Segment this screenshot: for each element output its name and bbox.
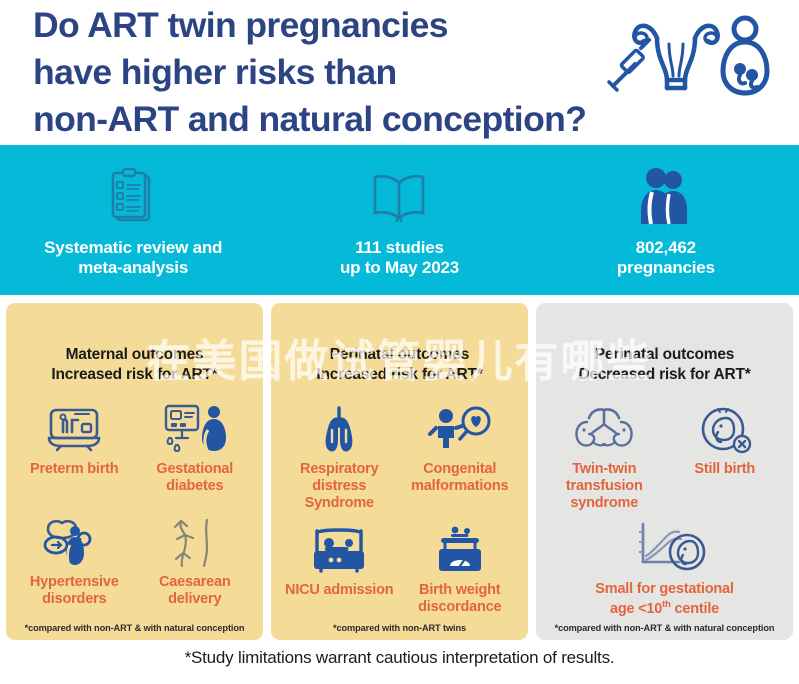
title-line-1: Do ART twin pregnancies [33,2,593,49]
incubator-icon [45,399,103,454]
open-book-icon [369,168,429,226]
item-label: Caesarean delivery [159,574,231,608]
panel-perinatal-increased: Perinatal outcomes Increased risk for AR… [271,303,528,640]
stat-line-1: Systematic review and [44,238,222,258]
caesarean-scar-icon [167,512,223,567]
item-respiratory-distress-syndrome: Respiratory distress Syndrome [279,397,400,519]
item-preterm-birth: Preterm birth [14,397,135,510]
label-line: Respiratory distress [281,461,398,495]
panel-title-line-2: Increased risk for ART* [279,365,520,385]
pregnant-woman-twins-icon [715,13,775,103]
item-twin-twin-transfusion-syndrome: Twin-twin transfusion syndrome [544,397,665,517]
item-label: NICU admission [285,582,393,599]
lungs-icon [310,399,368,454]
label-line: Twin-twin [566,461,643,478]
item-label: Preterm birth [30,461,118,478]
stat-pregnancies: 802,462 pregnancies [533,162,799,279]
label-line: diabetes [156,478,233,495]
label-line: Birth weight [418,582,501,599]
panel-title: Perinatal outcomes Increased risk for AR… [279,345,520,385]
stat-line-2: meta-analysis [44,258,222,278]
item-gestational-diabetes: Gestational diabetes [135,397,256,510]
panel-title-line-2: Decreased risk for ART* [544,365,785,385]
panel-title-line-2: Increased risk for ART* [14,365,255,385]
footer: *Study limitations warrant cautious inte… [0,640,799,676]
stillbirth-icon [696,399,754,454]
stat-systematic-review: Systematic review and meta-analysis [0,162,266,279]
header: Do ART twin pregnancies have higher risk… [0,0,799,145]
label-line-centile: age <10th centile [595,598,733,618]
panel-footnote: *compared with non-ART & with natural co… [14,623,255,640]
label-line: Still birth [694,461,755,478]
baby-magnifier-icon [428,399,492,454]
label-line: Small for gestational [595,581,733,598]
footer-text: *Study limitations warrant cautious inte… [185,648,615,668]
stat-studies: 111 studies up to May 2023 [266,162,532,279]
outcome-panels: Maternal outcomes Increased risk for ART… [0,295,799,640]
panel-title-line-1: Maternal outcomes [14,345,255,365]
item-label: Hypertensive disorders [30,574,119,608]
stat-line-1: 111 studies [340,238,459,258]
label-line: Gestational [156,461,233,478]
item-label: Birth weight discordance [418,582,501,616]
label-line: malformations [411,478,508,495]
stat-label: 111 studies up to May 2023 [340,238,459,279]
panel-title: Maternal outcomes Increased risk for ART… [14,345,255,385]
item-nicu-admission: NICU admission [279,518,400,623]
two-people-icon [639,168,693,226]
item-still-birth: Still birth [665,397,786,517]
label-line: Congenital [411,461,508,478]
growth-chart-baby-icon [617,519,713,574]
title-line-3: non-ART and natural conception? [33,96,593,143]
stat-line-2: pregnancies [617,258,715,278]
stat-line-2: up to May 2023 [340,258,459,278]
item-label: Twin-twin transfusion syndrome [566,461,643,512]
item-label: Congenital malformations [411,461,508,495]
stat-label: 802,462 pregnancies [617,238,715,279]
blood-pressure-icon [42,512,106,567]
item-congenital-malformations: Congenital malformations [400,397,521,519]
item-label: Small for gestational age <10th centile [595,581,733,618]
label-line: Hypertensive [30,574,119,591]
panel-footnote: *compared with non-ART & with natural co… [544,623,785,640]
header-icon-group [597,8,777,96]
stat-line-1: 802,462 [617,238,715,258]
label-line: Caesarean [159,574,231,591]
panel-title-line-1: Perinatal outcomes [279,345,520,365]
label-line: discordance [418,599,501,616]
twin-fetuses-icon [571,399,637,454]
item-label: Still birth [694,461,755,478]
label-line: delivery [159,591,231,608]
panel-items: Respiratory distress Syndrome [279,397,520,623]
item-label: Gestational diabetes [156,461,233,495]
title-line-2: have higher risks than [33,49,593,96]
panel-perinatal-decreased: Perinatal outcomes Decreased risk for AR… [536,303,793,640]
item-hypertensive-disorders: Hypertensive disorders [14,510,135,623]
panel-title-line-1: Perinatal outcomes [544,345,785,365]
item-birth-weight-discordance: Birth weight discordance [400,518,521,623]
item-label: Respiratory distress Syndrome [281,461,398,512]
nicu-cot-icon [309,520,369,575]
item-caesarean-delivery: Caesarean delivery [135,510,256,623]
panel-maternal-outcomes: Maternal outcomes Increased risk for ART… [6,303,263,640]
panel-title: Perinatal outcomes Decreased risk for AR… [544,345,785,385]
item-small-for-gestational-age: Small for gestational age <10th centile [544,517,785,623]
label-line: Preterm birth [30,461,118,478]
stat-label: Systematic review and meta-analysis [44,238,222,279]
label-line: NICU admission [285,582,393,599]
label-line: syndrome [566,495,643,512]
panel-items: Twin-twin transfusion syndrome [544,397,785,623]
glucose-monitor-icon [164,399,226,454]
page-title: Do ART twin pregnancies have higher risk… [33,2,593,143]
label-line: disorders [30,591,119,608]
label-line: Syndrome [281,495,398,512]
baby-scale-icon [431,520,489,575]
stats-band: Systematic review and meta-analysis 111 … [0,145,799,295]
clipboard-checklist-icon [109,168,157,226]
panel-footnote: *compared with non-ART twins [279,623,520,640]
panel-items: Preterm birth [14,397,255,623]
label-line: transfusion [566,478,643,495]
